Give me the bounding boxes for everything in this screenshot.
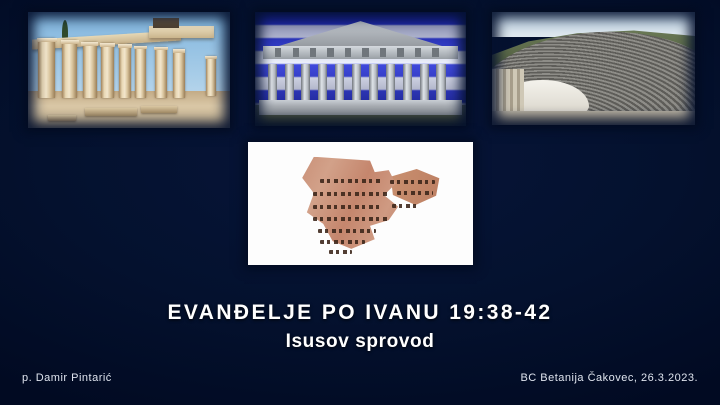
rubble-stone <box>48 115 76 121</box>
slide-title: EVANĐELJE PO IVANU 19:38-42 <box>0 300 720 326</box>
rubble-stone <box>141 106 177 113</box>
foreground-ground <box>492 111 695 125</box>
parthenon-reconstruction-photo <box>255 12 466 126</box>
parthenon-column <box>403 64 412 100</box>
greek-script-line <box>392 204 419 208</box>
rubble-stone <box>85 108 138 116</box>
parthenon-column <box>436 64 445 100</box>
title-block: EVANĐELJE PO IVANU 19:38-42 Isusov sprov… <box>0 300 720 354</box>
temple-column <box>206 56 216 95</box>
metope <box>362 48 368 58</box>
temple-column <box>38 38 55 98</box>
parthenon-column <box>285 64 294 100</box>
greek-script-line <box>313 192 390 196</box>
greek-script-line <box>329 250 352 254</box>
slide-subtitle: Isusov sprovod <box>0 330 720 354</box>
greek-script-line <box>313 205 383 209</box>
amphitheatre-artwork <box>492 12 695 125</box>
presentation-slide: EVANĐELJE PO IVANU 19:38-42 Isusov sprov… <box>0 0 720 405</box>
metope <box>432 48 438 58</box>
greek-script-line <box>320 240 365 244</box>
temple-column <box>155 47 167 98</box>
metope <box>310 48 316 58</box>
parthenon-column <box>301 64 310 100</box>
metope <box>380 48 386 58</box>
parthenon-column <box>352 64 361 100</box>
broken-capital-block <box>153 18 179 28</box>
greek-temple-ruins-photo <box>28 12 230 128</box>
temple-column <box>83 42 97 98</box>
metope <box>275 48 281 58</box>
metope <box>415 48 421 58</box>
metope <box>345 48 351 58</box>
parthenon-artwork <box>255 12 466 126</box>
papyrus-fragment-photo <box>248 142 473 265</box>
temple-column <box>173 49 184 98</box>
greek-script-line <box>390 180 435 184</box>
metope <box>293 48 299 58</box>
slide-footer: p. Damir Pintarić BC Betanija Čakovec, 2… <box>0 372 720 392</box>
greek-temple-ruins-artwork <box>28 12 230 128</box>
parthenon-column <box>386 64 395 100</box>
temple-column <box>119 44 131 97</box>
metope <box>397 48 403 58</box>
ancient-amphitheatre-photo <box>492 12 695 125</box>
metope <box>327 48 333 58</box>
greek-script-line <box>318 229 377 233</box>
parthenon-column <box>318 64 327 100</box>
temple-column <box>135 46 146 98</box>
stage-wall-ruins <box>492 69 524 114</box>
temple-column <box>62 40 77 98</box>
architrave-frieze <box>263 46 457 59</box>
greek-script-line <box>397 191 433 195</box>
parthenon-column <box>268 64 277 100</box>
greek-script-line <box>320 179 383 183</box>
footer-venue-date: BC Betanija Čakovec, 26.3.2023. <box>520 372 698 384</box>
greek-script-line <box>313 217 387 221</box>
parthenon-column <box>369 64 378 100</box>
papyrus-artwork <box>248 142 473 265</box>
parthenon-column <box>335 64 344 100</box>
parthenon-column <box>420 64 429 100</box>
footer-presenter: p. Damir Pintarić <box>22 372 112 384</box>
stylobate-steps <box>259 100 462 115</box>
temple-column <box>101 43 114 98</box>
